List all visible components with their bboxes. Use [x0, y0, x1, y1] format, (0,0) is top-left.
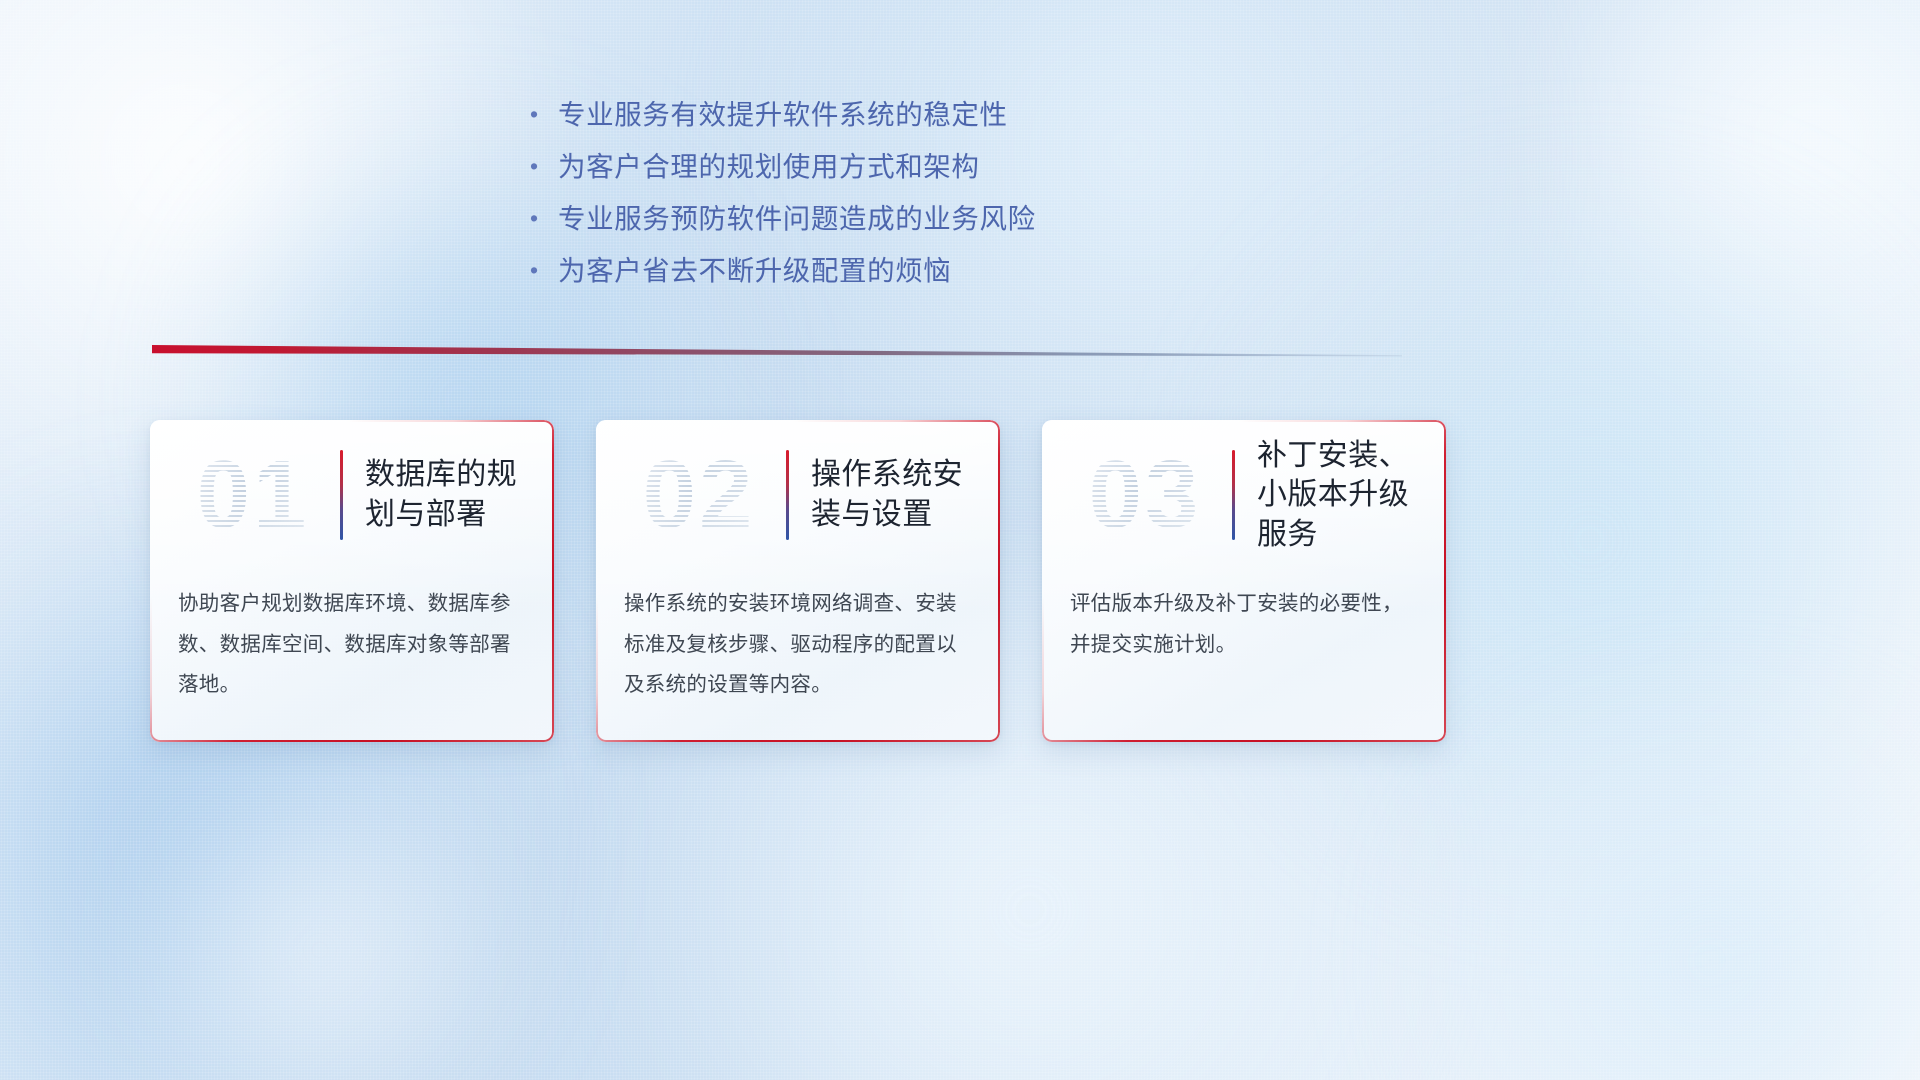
card-number-watermark: 02 [618, 440, 780, 550]
card-title-rule [786, 450, 789, 540]
card-title-rule [340, 450, 343, 540]
service-card-03[interactable]: 03 补丁安装、小版本升级服务 评估版本升级及补丁安装的必要性，并提交实施计划。 [1042, 420, 1446, 742]
list-item: • 专业服务有效提升软件系统的稳定性 [530, 92, 1250, 144]
card-number-watermark: 01 [172, 440, 334, 550]
background-glow-top-right [1500, 0, 1920, 400]
bullet-marker-icon: • [530, 259, 558, 282]
card-title-rule [1232, 450, 1235, 540]
bullet-text: 为客户省去不断升级配置的烦恼 [558, 248, 951, 288]
background-glow-bottom-right [1340, 700, 1920, 1080]
card-body-text: 评估版本升级及补丁安装的必要性，并提交实施计划。 [1042, 570, 1446, 665]
benefits-bullet-list: • 专业服务有效提升软件系统的稳定性 • 为客户合理的规划使用方式和架构 • 专… [530, 92, 1250, 300]
service-card-02[interactable]: 02 操作系统安装与设置 操作系统的安装环境网络调查、安装标准及复核步骤、驱动程… [596, 420, 1000, 742]
card-number-watermark: 03 [1064, 440, 1226, 550]
service-card-row: 01 数据库的规划与部署 协助客户规划数据库环境、数据库参数、数据库空间、数据库… [150, 420, 1770, 750]
list-item: • 专业服务预防软件问题造成的业务风险 [530, 196, 1250, 248]
card-title: 补丁安装、小版本升级服务 [1257, 436, 1432, 555]
list-item: • 为客户合理的规划使用方式和架构 [530, 144, 1250, 196]
background-glow-lower-left [60, 760, 580, 1080]
bullet-text: 专业服务预防软件问题造成的业务风险 [558, 196, 1036, 236]
card-header: 03 补丁安装、小版本升级服务 [1042, 420, 1446, 570]
bullet-text: 为客户合理的规划使用方式和架构 [558, 144, 980, 184]
bullet-marker-icon: • [530, 103, 558, 126]
bullet-text: 专业服务有效提升软件系统的稳定性 [558, 92, 1008, 132]
slide-canvas: • 专业服务有效提升软件系统的稳定性 • 为客户合理的规划使用方式和架构 • 专… [0, 0, 1920, 1080]
section-divider [152, 344, 1402, 366]
card-title: 数据库的规划与部署 [365, 455, 540, 534]
bullet-marker-icon: • [530, 155, 558, 178]
card-body-text: 协助客户规划数据库环境、数据库参数、数据库空间、数据库对象等部署落地。 [150, 570, 554, 706]
card-body-text: 操作系统的安装环境网络调查、安装标准及复核步骤、驱动程序的配置以及系统的设置等内… [596, 570, 1000, 706]
service-card-01[interactable]: 01 数据库的规划与部署 协助客户规划数据库环境、数据库参数、数据库空间、数据库… [150, 420, 554, 742]
bullet-marker-icon: • [530, 207, 558, 230]
card-header: 01 数据库的规划与部署 [150, 420, 554, 570]
section-divider-shape [152, 344, 1402, 366]
card-header: 02 操作系统安装与设置 [596, 420, 1000, 570]
card-title: 操作系统安装与设置 [811, 455, 986, 534]
list-item: • 为客户省去不断升级配置的烦恼 [530, 248, 1250, 300]
